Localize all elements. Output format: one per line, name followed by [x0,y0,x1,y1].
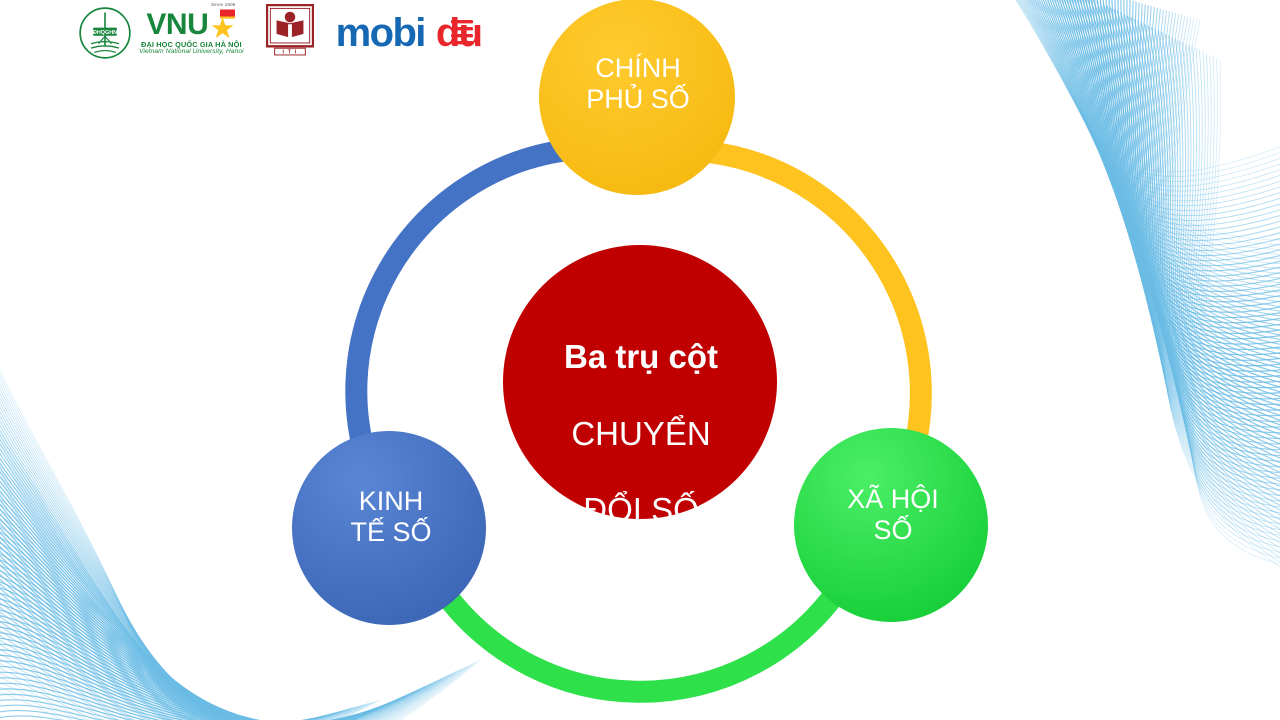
iti-wordmark: I T I [282,50,297,56]
iti-logo: I T I [266,4,314,61]
node-kinh-te-so[interactable] [292,431,486,625]
node-center[interactable] [503,245,777,519]
three-pillar-diagram [0,0,1280,720]
vnu-wordmark: VNU [146,11,208,39]
vnu-seal-icon: ĐHQGHN [78,6,132,60]
vnu-star-flag-icon: Since 1906 [210,9,236,39]
vnu-seal-text: ĐHQGHN [93,29,117,35]
node-chinh-phu-so[interactable] [539,0,735,195]
vnu-subtitle-vi: ĐẠI HỌC QUỐC GIA HÀ NỘI [141,41,242,48]
mobiedu-part-mobi: mobi [336,13,425,53]
mobiedu-logo: mobi du [336,13,482,53]
mobiedu-e-glyph-icon [451,19,475,47]
node-xa-hoi-so[interactable] [794,428,988,622]
logo-bar: ĐHQGHN VNU Since 1906 ĐẠI HỌC QUỐC GIA H… [78,4,482,61]
vnu-since-text: Since 1906 [210,3,236,8]
vnu-subtitle-en: Vietnam National University, Hanoi [139,49,244,56]
slide-canvas: ĐHQGHN VNU Since 1906 ĐẠI HỌC QUỐC GIA H… [0,0,1280,720]
arc-green [450,598,832,692]
vnu-logo: ĐHQGHN VNU Since 1906 ĐẠI HỌC QUỐC GIA H… [78,6,244,60]
iti-logo-icon: I T I [266,4,314,56]
